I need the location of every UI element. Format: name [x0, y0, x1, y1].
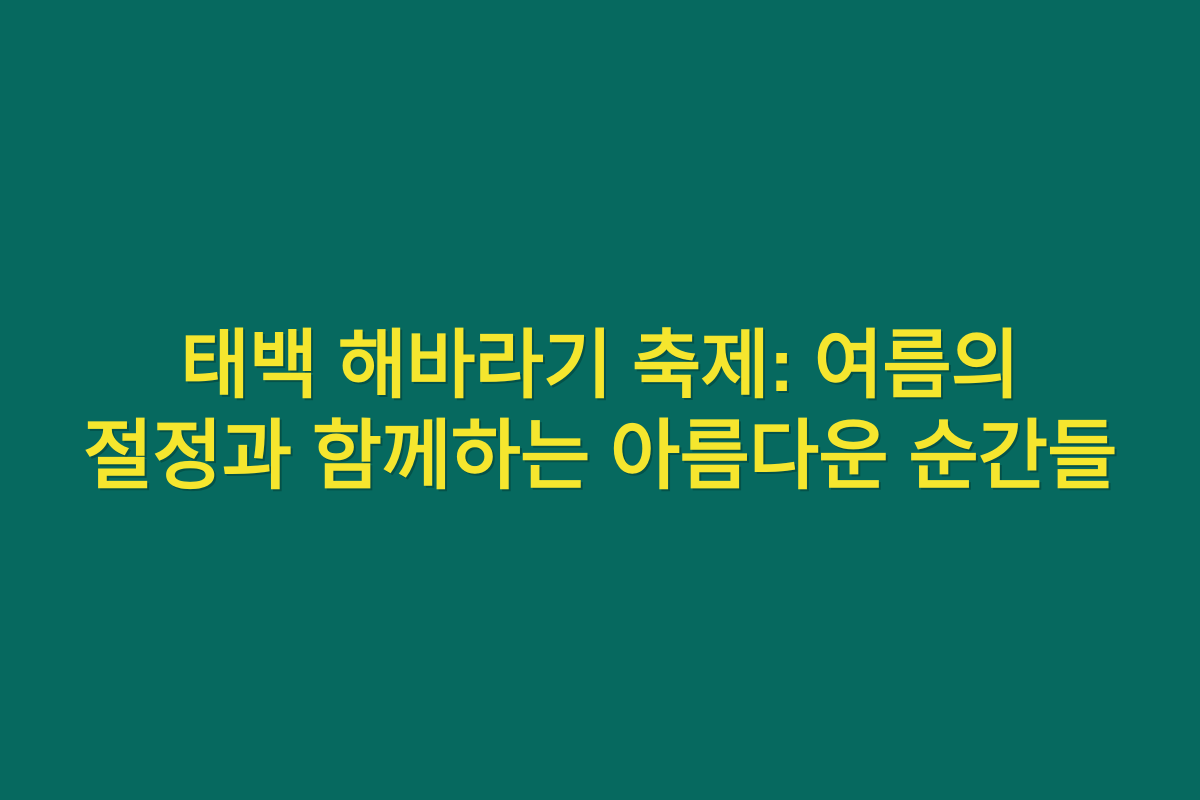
- title-line-2: 절정과 함께하는 아름다운 순간들: [24, 411, 1176, 503]
- page-title: 태백 해바라기 축제: 여름의 절정과 함께하는 아름다운 순간들: [0, 319, 1200, 503]
- title-line-1: 태백 해바라기 축제: 여름의: [24, 319, 1176, 411]
- title-banner: 태백 해바라기 축제: 여름의 절정과 함께하는 아름다운 순간들: [0, 0, 1200, 800]
